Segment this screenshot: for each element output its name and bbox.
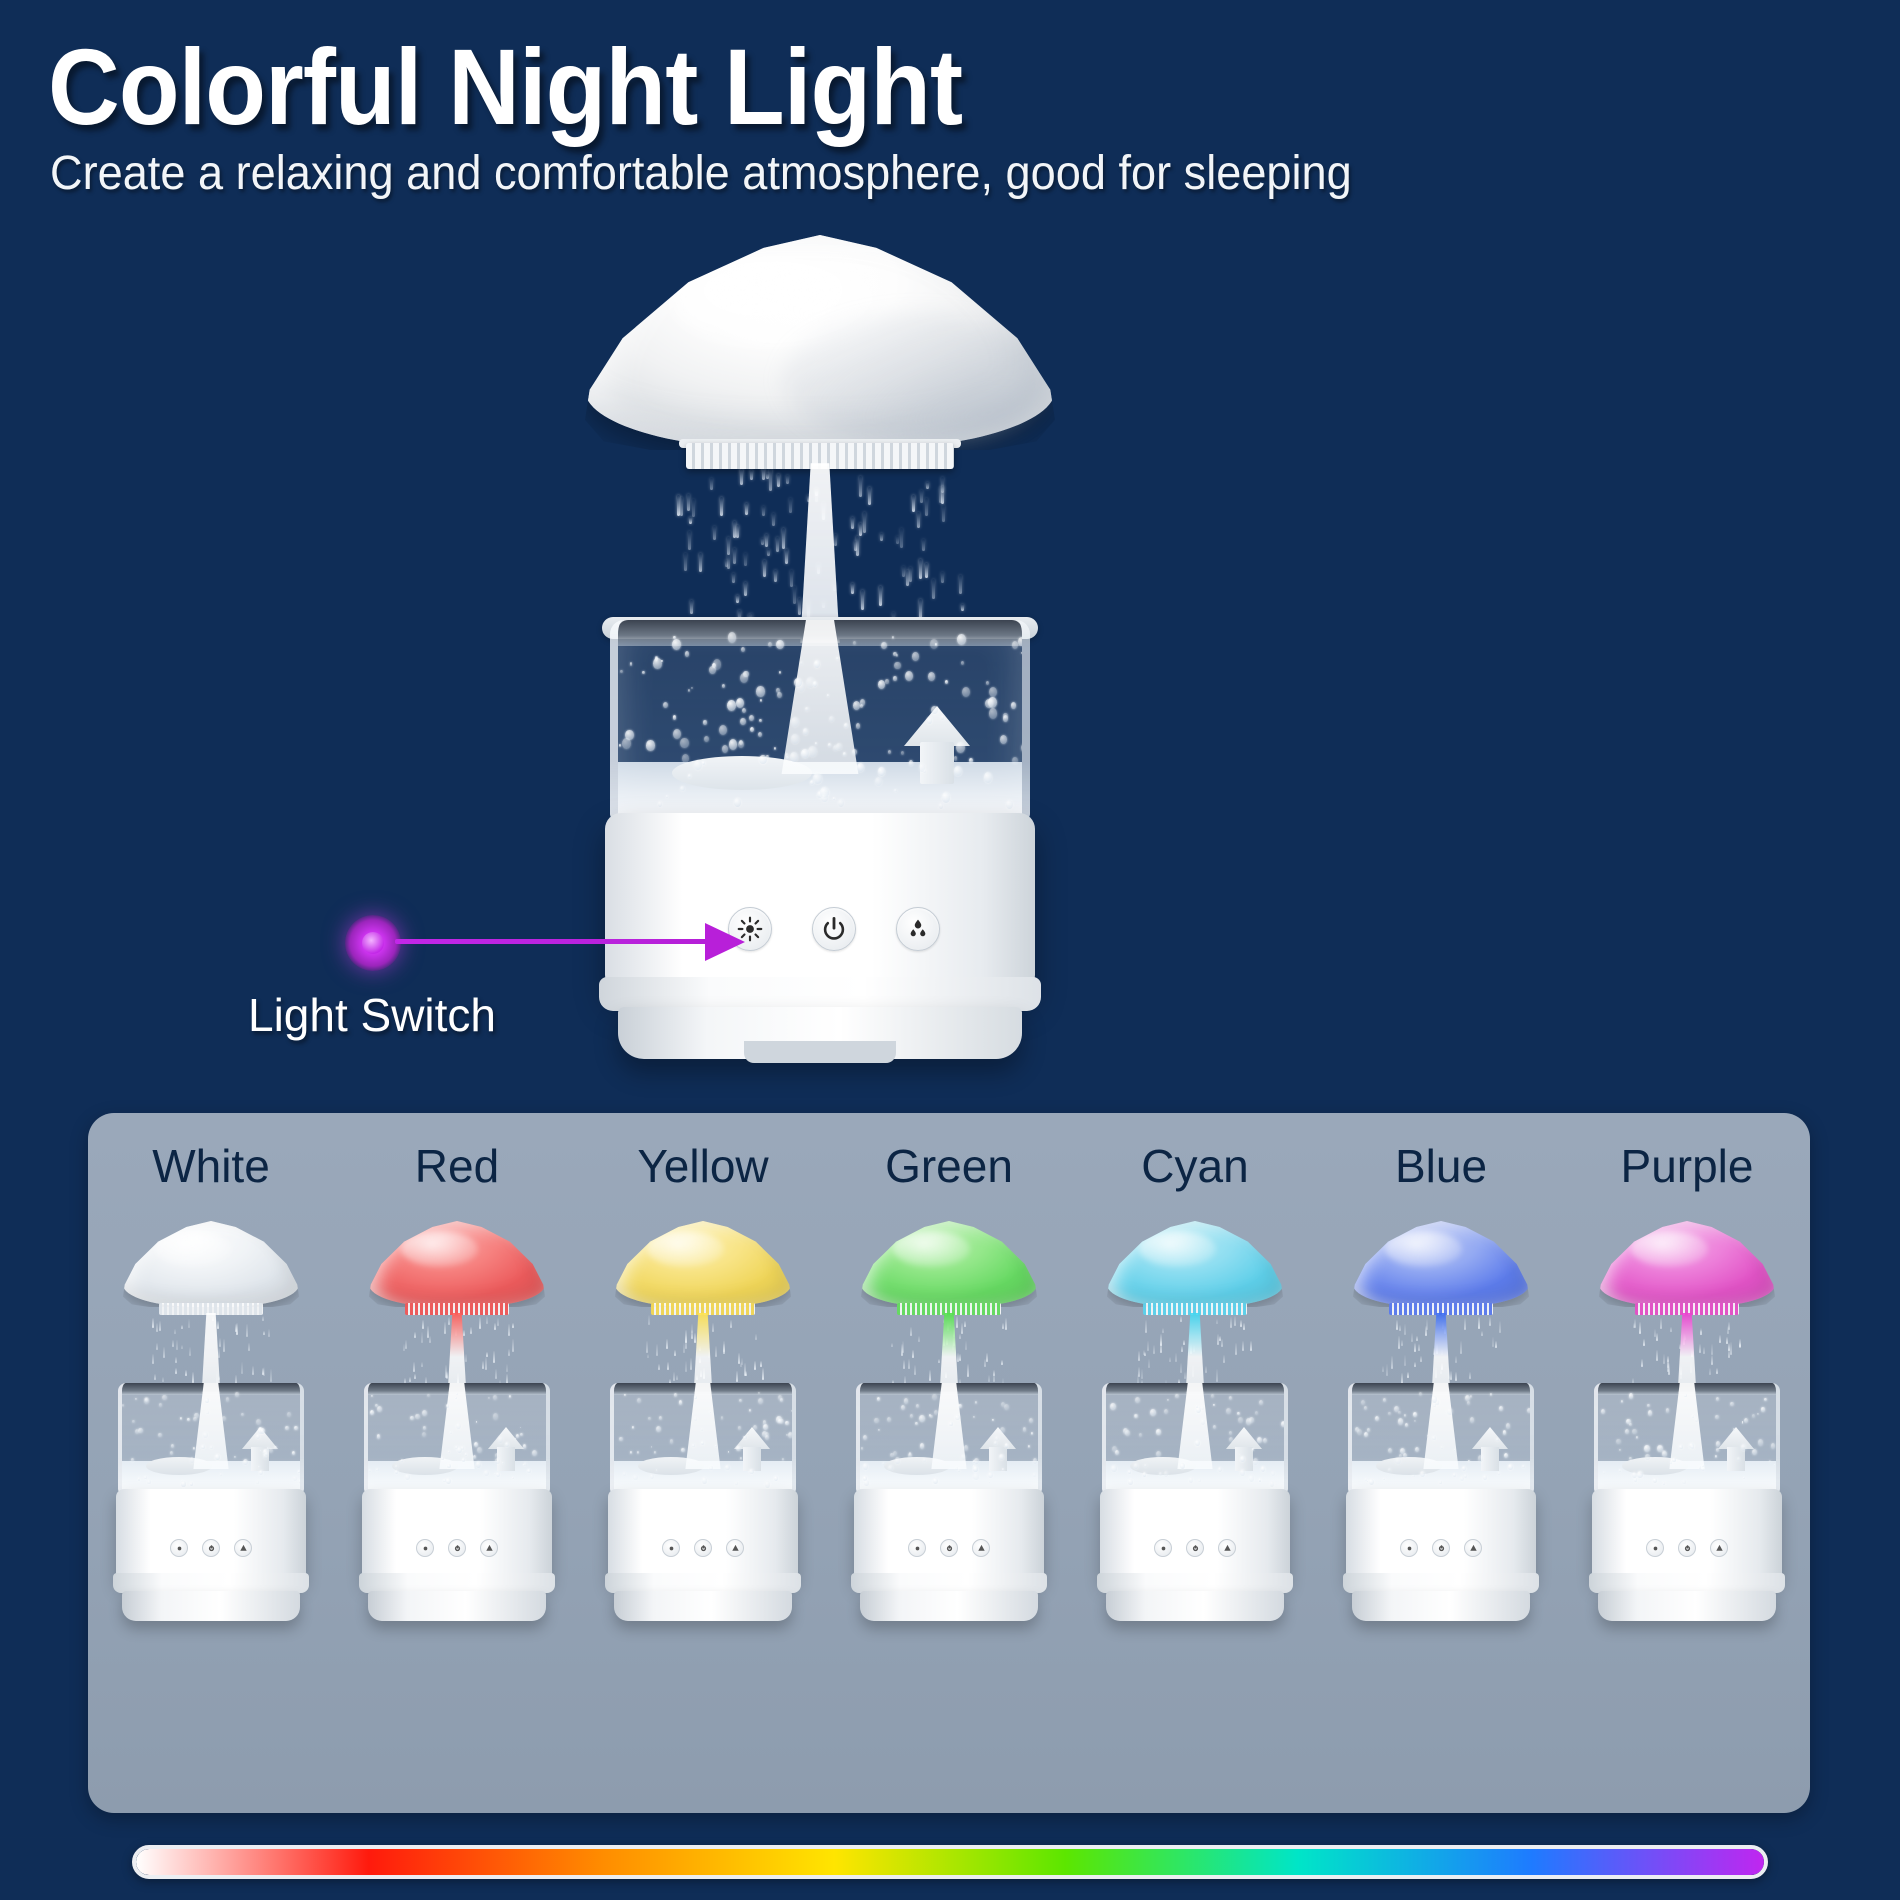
mini-water-droplets-button[interactable] xyxy=(726,1539,744,1557)
mini-tank-droplet xyxy=(882,1462,884,1465)
mini-tank-droplet xyxy=(1388,1412,1390,1415)
mini-control-panel xyxy=(170,1539,252,1557)
color-options-panel: WhiteRedYellowGreenCyanBluePurple xyxy=(88,1113,1810,1813)
water-droplets-icon xyxy=(1222,1543,1233,1554)
mini-tank-droplet xyxy=(447,1464,451,1469)
mini-tank-droplet xyxy=(1626,1419,1630,1425)
mini-tank-droplet xyxy=(749,1469,753,1475)
mini-base-seam xyxy=(1589,1573,1785,1593)
mini-tank-droplet xyxy=(1255,1411,1258,1415)
mini-house-body xyxy=(989,1447,1007,1471)
water-droplets-icon xyxy=(905,916,931,942)
mini-tank-droplet xyxy=(633,1475,638,1481)
mushroom-cap xyxy=(585,235,1055,450)
mini-tank-droplet xyxy=(488,1397,490,1399)
mini-house-figurine xyxy=(980,1427,1016,1471)
mini-device xyxy=(357,1221,557,1751)
mini-sun-brightness-button[interactable] xyxy=(908,1539,926,1557)
mini-tank-droplet xyxy=(1031,1432,1033,1435)
mini-tank-droplet xyxy=(1229,1431,1232,1435)
mini-power-button[interactable] xyxy=(940,1539,958,1557)
house-body xyxy=(920,742,954,784)
mini-tank-droplet xyxy=(1761,1407,1764,1411)
mini-tank-droplet xyxy=(1164,1471,1169,1477)
mini-tank-droplet xyxy=(1483,1475,1487,1480)
mini-base-foot xyxy=(860,1591,1038,1621)
mini-base-seam xyxy=(1097,1573,1293,1593)
mini-tank-droplet xyxy=(694,1417,697,1421)
mini-tank-droplet xyxy=(949,1422,953,1426)
mini-power-button[interactable] xyxy=(694,1539,712,1557)
cap-shadow xyxy=(782,312,1045,445)
mini-tank-droplet xyxy=(1439,1481,1442,1484)
mini-tank-droplet xyxy=(1672,1458,1675,1462)
mini-tank-droplet xyxy=(1771,1443,1775,1449)
mini-tank-droplet xyxy=(287,1412,291,1417)
mini-tank-droplet xyxy=(1632,1472,1637,1479)
mini-house-roof xyxy=(1718,1427,1754,1449)
mini-tank-droplet xyxy=(910,1414,913,1418)
mini-tank-droplet xyxy=(1388,1448,1392,1453)
mini-tank-droplet xyxy=(1412,1475,1414,1478)
mini-tank-droplet xyxy=(1716,1441,1720,1446)
mini-tank-droplet xyxy=(1619,1449,1621,1451)
mini-tank-droplet xyxy=(973,1416,975,1418)
mini-tank-droplet xyxy=(1695,1418,1698,1422)
mini-tank-droplet xyxy=(863,1435,867,1440)
mini-tank-droplet xyxy=(758,1398,763,1405)
mini-tank-droplet xyxy=(405,1474,410,1480)
power-icon xyxy=(1436,1543,1447,1554)
mini-tank-droplet xyxy=(1419,1392,1422,1396)
mini-device xyxy=(1095,1221,1295,1751)
mini-tank-droplet xyxy=(670,1439,674,1443)
mini-tank-mist-column xyxy=(189,1383,233,1469)
mini-tank-droplet xyxy=(743,1436,746,1440)
mini-tank-droplet xyxy=(701,1428,703,1431)
mini-tank-droplet xyxy=(369,1469,371,1471)
mini-tank-droplet xyxy=(294,1426,298,1431)
mini-tank-droplet xyxy=(778,1419,781,1423)
mini-tank-droplet xyxy=(878,1429,880,1431)
color-swatch[interactable]: White xyxy=(88,1113,334,1813)
mini-tank-droplet xyxy=(1670,1461,1672,1463)
mini-tank-droplet xyxy=(1213,1404,1215,1406)
mini-tank-droplet xyxy=(955,1467,958,1470)
color-swatch[interactable]: Green xyxy=(826,1113,1072,1813)
mini-tank-droplet xyxy=(524,1462,527,1465)
mini-tank-droplet xyxy=(1144,1464,1146,1467)
mini-tank-droplet xyxy=(1238,1417,1243,1423)
mini-tank-droplet xyxy=(422,1410,427,1416)
mini-tank-droplet xyxy=(791,1410,793,1412)
mini-tank-droplet xyxy=(656,1426,661,1433)
mini-tank-droplet xyxy=(1159,1472,1162,1476)
mini-tank-droplet xyxy=(1758,1439,1763,1446)
mini-tank-droplet xyxy=(455,1397,457,1399)
mini-tank-droplet xyxy=(749,1409,751,1412)
mini-tank-droplet xyxy=(877,1397,880,1401)
mini-tank-droplet xyxy=(377,1434,380,1438)
mini-mushroom-cap xyxy=(861,1221,1037,1307)
mini-tank-droplet xyxy=(170,1451,173,1455)
mini-tank-droplet xyxy=(904,1398,909,1404)
mini-tank-droplet xyxy=(446,1404,449,1408)
water-droplets-icon xyxy=(976,1543,987,1554)
page-title: Colorful Night Light xyxy=(48,24,962,149)
mini-tank-droplet xyxy=(1441,1446,1443,1449)
mini-tank-droplet xyxy=(973,1460,975,1463)
mini-tank-droplet xyxy=(765,1481,770,1488)
mini-tank-droplet xyxy=(1281,1421,1286,1427)
mini-tank-droplet xyxy=(1259,1400,1263,1405)
power-icon xyxy=(944,1543,955,1554)
mini-tank-droplet xyxy=(1648,1410,1652,1415)
mini-tank-droplet xyxy=(1180,1463,1185,1469)
mini-water-droplets-button[interactable] xyxy=(1218,1539,1236,1557)
mini-tank-droplet xyxy=(1744,1418,1748,1423)
mini-tank-droplet xyxy=(187,1418,190,1421)
mini-power-button[interactable] xyxy=(1432,1539,1450,1557)
mini-device-base xyxy=(116,1489,306,1585)
mini-tank-droplet xyxy=(1702,1465,1704,1467)
mini-tank-droplet xyxy=(477,1447,482,1453)
mini-tank-droplet xyxy=(1764,1398,1767,1401)
mini-tank-droplet xyxy=(654,1451,656,1453)
mini-tank-droplet xyxy=(1123,1428,1128,1435)
mini-control-panel xyxy=(1400,1539,1482,1557)
mini-tank-droplet xyxy=(1357,1429,1362,1435)
mini-tank-droplet xyxy=(1395,1457,1400,1464)
mini-tank-droplet xyxy=(498,1436,503,1442)
mini-base-seam xyxy=(851,1573,1047,1593)
mini-sun-brightness-button[interactable] xyxy=(1400,1539,1418,1557)
mini-tank-droplet xyxy=(241,1413,244,1417)
mini-house-body xyxy=(743,1447,761,1471)
water-droplets-icon xyxy=(238,1543,249,1554)
mini-tank-droplet xyxy=(1415,1447,1419,1452)
mini-tank-droplet xyxy=(1499,1406,1503,1411)
mini-tank-droplet xyxy=(190,1457,194,1462)
mini-tank-droplet xyxy=(651,1446,653,1448)
mini-tank-droplet xyxy=(738,1426,741,1429)
mini-tank-droplet xyxy=(1156,1429,1160,1434)
mini-tank-droplet xyxy=(205,1398,209,1403)
mini-tank-droplet xyxy=(1383,1398,1386,1402)
mini-tank-droplet xyxy=(450,1431,452,1434)
mini-water-droplets-button[interactable] xyxy=(480,1539,498,1557)
mini-water-droplets-button[interactable] xyxy=(1464,1539,1482,1557)
mini-tank-droplet xyxy=(1261,1466,1266,1472)
mini-water-tank xyxy=(118,1383,304,1493)
mini-cap-highlight xyxy=(401,1231,478,1267)
mini-water-droplets-button[interactable] xyxy=(1710,1539,1728,1557)
mini-tank-droplet xyxy=(505,1442,509,1447)
mini-tank-droplet xyxy=(523,1444,527,1449)
mini-device-base xyxy=(854,1489,1044,1585)
mini-water-droplets-button[interactable] xyxy=(234,1539,252,1557)
mini-tank-droplet xyxy=(144,1397,149,1404)
mini-tank-droplet xyxy=(1420,1471,1425,1477)
mini-tank-droplet xyxy=(1644,1445,1649,1452)
mini-tank-droplet xyxy=(782,1458,784,1460)
mini-tank-mist-column xyxy=(1665,1383,1709,1469)
mini-tank-droplet xyxy=(285,1426,289,1431)
mini-tank-droplet xyxy=(1647,1404,1650,1407)
mini-tank-droplet xyxy=(1033,1473,1036,1477)
mist-button[interactable] xyxy=(896,907,940,951)
mini-tank-droplet xyxy=(1730,1402,1734,1407)
mini-tank-droplet xyxy=(934,1410,938,1416)
mini-device xyxy=(1341,1221,1541,1751)
mini-mushroom-cap xyxy=(1107,1221,1283,1307)
infographic-canvas: Colorful Night Light Create a relaxing a… xyxy=(0,0,1900,1900)
mini-tank-droplet xyxy=(701,1441,704,1445)
mini-tank-droplet xyxy=(1601,1409,1605,1414)
mini-house-figurine xyxy=(488,1427,524,1471)
mini-base-seam xyxy=(359,1573,555,1593)
mini-tank-droplet xyxy=(1679,1445,1682,1449)
mini-tank-droplet xyxy=(260,1428,265,1434)
mini-cap-highlight xyxy=(1631,1231,1708,1267)
mini-sun-brightness-button[interactable] xyxy=(170,1539,188,1557)
mini-cap-highlight xyxy=(893,1231,970,1267)
mini-sun-brightness-button[interactable] xyxy=(1154,1539,1172,1557)
mini-tank-droplet xyxy=(702,1477,707,1483)
mini-tank-droplet xyxy=(493,1413,498,1419)
mini-tank-droplet xyxy=(493,1395,497,1400)
glow-dot-core xyxy=(362,932,384,954)
mini-tank-droplet xyxy=(747,1433,749,1435)
mini-tank-droplet xyxy=(681,1448,684,1452)
base-notch xyxy=(744,1041,896,1063)
mini-tank-droplet xyxy=(674,1393,677,1397)
mini-device-base xyxy=(362,1489,552,1585)
mini-tank-droplet xyxy=(1715,1415,1719,1420)
light-switch-label: Light Switch xyxy=(248,988,496,1042)
color-swatch[interactable]: Blue xyxy=(1318,1113,1564,1813)
mini-tank-droplet xyxy=(1211,1394,1214,1398)
mini-water-tank xyxy=(1348,1383,1534,1493)
mini-tank-droplet xyxy=(1470,1417,1475,1423)
mini-tank-droplet xyxy=(256,1419,261,1426)
mini-tank-droplet xyxy=(206,1411,208,1414)
sun-brightness-icon xyxy=(1650,1543,1661,1554)
mini-tank-droplet xyxy=(1189,1477,1193,1482)
color-swatch-row: WhiteRedYellowGreenCyanBluePurple xyxy=(88,1113,1810,1813)
mini-tank-droplet xyxy=(916,1404,919,1408)
mini-tank-droplet xyxy=(1240,1456,1245,1462)
power-button[interactable] xyxy=(812,907,856,951)
mini-tank-droplet xyxy=(715,1445,717,1447)
mini-tank-droplet xyxy=(495,1458,500,1464)
mini-control-panel xyxy=(908,1539,990,1557)
color-swatch[interactable]: Yellow xyxy=(580,1113,826,1813)
mini-tank-droplet xyxy=(122,1404,124,1407)
mini-cap-highlight xyxy=(155,1231,232,1267)
mini-tank-droplet xyxy=(763,1420,767,1425)
mini-tank-droplet xyxy=(864,1480,869,1486)
mini-tank-droplet xyxy=(1237,1412,1240,1416)
mini-tank-droplet xyxy=(1263,1438,1267,1443)
mini-tank-droplet xyxy=(637,1451,639,1454)
mini-tank-droplet xyxy=(516,1434,519,1438)
mini-base-foot xyxy=(1106,1591,1284,1621)
mini-tank-droplet xyxy=(650,1474,654,1479)
mini-tank-droplet xyxy=(619,1437,623,1442)
mini-tank-droplet xyxy=(975,1401,977,1404)
mini-tank-droplet xyxy=(180,1417,182,1420)
mini-device-base xyxy=(1592,1489,1782,1585)
mini-tank-droplet xyxy=(861,1447,863,1449)
mini-mushroom-cap xyxy=(1353,1221,1529,1307)
mini-water-tank xyxy=(1102,1383,1288,1493)
mini-tank-droplet xyxy=(739,1399,742,1403)
mini-tank-droplet xyxy=(502,1462,504,1465)
color-swatch[interactable]: Cyan xyxy=(1072,1113,1318,1813)
base-seam xyxy=(599,977,1041,1011)
mini-tank-droplet xyxy=(203,1432,208,1438)
mini-tank-droplet xyxy=(292,1451,295,1455)
mini-tank-droplet xyxy=(915,1422,917,1425)
mini-base-seam xyxy=(605,1573,801,1593)
mini-tank-droplet xyxy=(462,1458,465,1462)
mini-house-body xyxy=(1481,1447,1499,1471)
mini-tank-droplet xyxy=(1361,1400,1365,1405)
mini-tank-droplet xyxy=(159,1403,162,1406)
mini-tank-droplet xyxy=(1733,1428,1735,1430)
mini-tank-droplet xyxy=(973,1466,977,1471)
sun-brightness-icon xyxy=(1158,1543,1169,1554)
mini-power-button[interactable] xyxy=(202,1539,220,1557)
mini-tank-droplet xyxy=(162,1395,167,1401)
mini-tank-droplet xyxy=(158,1433,162,1437)
mini-tank-droplet xyxy=(659,1416,662,1420)
mini-tank-droplet xyxy=(1201,1406,1204,1410)
mini-tank-droplet xyxy=(1715,1455,1718,1458)
mini-tank-mist-column xyxy=(1419,1383,1463,1469)
mini-tank-droplet xyxy=(1398,1418,1403,1425)
mini-tank-droplet xyxy=(1128,1479,1133,1485)
mini-sun-brightness-button[interactable] xyxy=(416,1539,434,1557)
mini-tank-droplet xyxy=(235,1392,239,1396)
color-swatch-label: Red xyxy=(334,1139,580,1193)
mini-tank-droplet xyxy=(788,1432,793,1438)
mini-power-button[interactable] xyxy=(1186,1539,1204,1557)
color-swatch-label: Yellow xyxy=(580,1139,826,1193)
mini-sun-brightness-button[interactable] xyxy=(662,1539,680,1557)
mini-tank-droplet xyxy=(1023,1427,1026,1431)
mini-tank-droplet xyxy=(370,1410,374,1415)
mini-tank-droplet xyxy=(964,1445,968,1451)
mini-tank-droplet xyxy=(532,1450,537,1456)
mini-mushroom-cap xyxy=(615,1221,791,1307)
mini-control-panel xyxy=(416,1539,498,1557)
mini-tank-droplet xyxy=(1167,1399,1169,1401)
mini-tank-droplet xyxy=(1201,1419,1205,1425)
mini-tank-droplet xyxy=(201,1445,204,1449)
mini-sun-brightness-button[interactable] xyxy=(1646,1539,1664,1557)
mini-tank-droplet xyxy=(1645,1454,1649,1460)
mini-tank-droplet xyxy=(1662,1451,1667,1457)
water-droplets-icon xyxy=(484,1543,495,1554)
mini-water-tank xyxy=(610,1383,796,1493)
water-tank xyxy=(610,620,1030,820)
sun-brightness-icon xyxy=(420,1543,431,1554)
mini-power-button[interactable] xyxy=(1678,1539,1696,1557)
mini-tank-droplet xyxy=(495,1453,499,1458)
mini-tank-droplet xyxy=(299,1479,303,1484)
mini-device xyxy=(603,1221,803,1751)
sun-brightness-icon xyxy=(174,1543,185,1554)
mini-tank-droplet xyxy=(509,1395,511,1398)
color-swatch-label: Purple xyxy=(1564,1139,1810,1193)
mini-tank-droplet xyxy=(1465,1395,1470,1401)
mini-tank-droplet xyxy=(920,1443,924,1448)
mini-tank-droplet xyxy=(992,1419,994,1421)
mini-tank-droplet xyxy=(1414,1420,1416,1422)
mini-tank-droplet xyxy=(1226,1408,1231,1414)
mini-water-tank xyxy=(856,1383,1042,1493)
mini-tank-droplet xyxy=(527,1469,531,1474)
mini-tank-droplet xyxy=(234,1456,236,1458)
mini-tank-droplet xyxy=(1490,1393,1492,1396)
mini-tank-droplet xyxy=(774,1476,778,1481)
mini-tank-droplet xyxy=(520,1433,523,1436)
mini-tank-droplet xyxy=(973,1473,978,1480)
mini-tank-droplet xyxy=(147,1480,151,1485)
mini-base-foot xyxy=(122,1591,300,1621)
mini-tank-droplet xyxy=(1028,1445,1031,1448)
glow-dot-marker xyxy=(345,915,401,971)
mini-tank-droplet xyxy=(377,1406,382,1413)
mini-tank-droplet xyxy=(1629,1393,1633,1398)
mini-tank-droplet xyxy=(630,1451,633,1454)
mini-tank-droplet xyxy=(132,1420,135,1424)
mini-base-seam xyxy=(113,1573,309,1593)
mini-tank-droplet xyxy=(874,1418,879,1424)
mini-tank-droplet xyxy=(1196,1405,1198,1407)
mini-tank-droplet xyxy=(1737,1457,1740,1461)
power-icon xyxy=(452,1543,463,1554)
mini-tank-droplet xyxy=(1229,1396,1232,1400)
mini-tank-droplet xyxy=(958,1404,961,1408)
mini-tank-droplet xyxy=(1616,1439,1620,1445)
mini-tank-droplet xyxy=(1213,1425,1216,1429)
mini-base-foot xyxy=(368,1591,546,1621)
mini-power-button[interactable] xyxy=(448,1539,466,1557)
mini-base-foot xyxy=(1352,1591,1530,1621)
mini-tank-droplet xyxy=(1005,1443,1009,1447)
mini-tank-droplet xyxy=(1175,1394,1178,1398)
mini-tank-droplet xyxy=(736,1446,740,1451)
mini-tank-droplet xyxy=(476,1461,481,1467)
mini-tank-droplet xyxy=(1110,1403,1116,1410)
color-swatch[interactable]: Purple xyxy=(1564,1113,1810,1813)
mini-tank-droplet xyxy=(181,1481,185,1486)
color-swatch[interactable]: Red xyxy=(334,1113,580,1813)
mini-water-droplets-button[interactable] xyxy=(972,1539,990,1557)
mini-tank-droplet xyxy=(1164,1409,1168,1414)
mini-tank-droplet xyxy=(1470,1395,1472,1398)
mini-tank-droplet xyxy=(679,1400,683,1405)
mini-tank-droplet xyxy=(1621,1400,1623,1403)
mini-tank-droplet xyxy=(1249,1417,1254,1423)
mini-tank-droplet xyxy=(293,1476,297,1481)
mini-tank-droplet xyxy=(1143,1472,1147,1477)
mini-tank-droplet xyxy=(637,1398,641,1403)
mini-tank-droplet xyxy=(1150,1409,1155,1416)
